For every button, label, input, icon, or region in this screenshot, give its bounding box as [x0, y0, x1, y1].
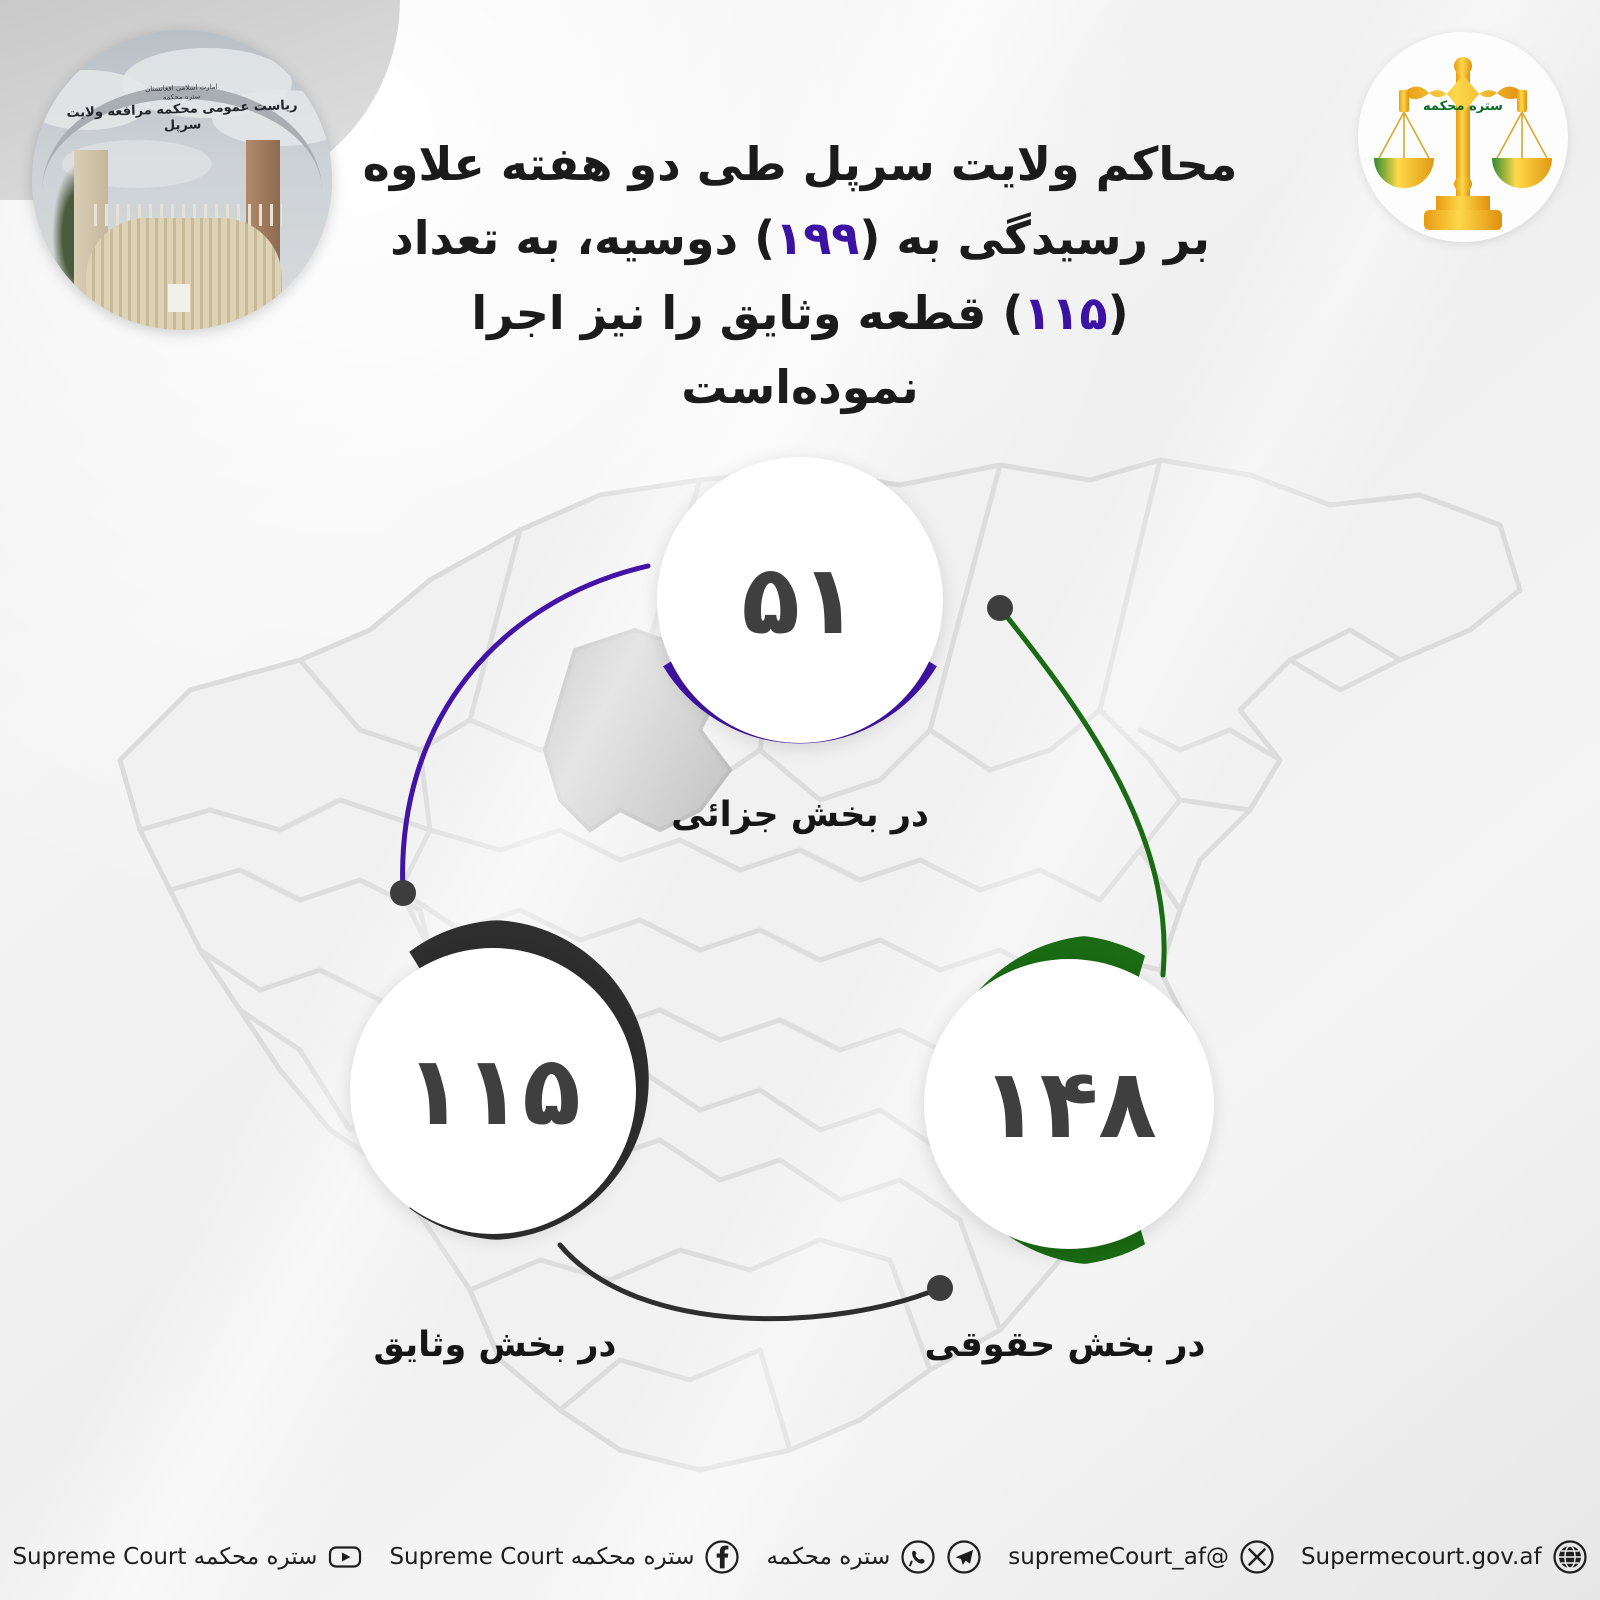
- deeds-value: ۱۱۵: [405, 1035, 581, 1147]
- connector-criminal: [403, 566, 648, 893]
- whatsapp-icon[interactable]: [900, 1539, 936, 1575]
- metric-deeds[interactable]: ۱۱۵: [345, 920, 665, 1240]
- footer-label-facebook: ستره محکمه Supreme Court: [389, 1544, 694, 1570]
- deeds-caption: در بخش وثایق: [330, 1325, 660, 1365]
- infographic-canvas: امارت اسلامی افغانستان ستره محکمه ریاست …: [0, 0, 1600, 1600]
- metric-civil[interactable]: ۱۴۸: [900, 935, 1230, 1265]
- footer-label-messaging: ستره محکمه: [766, 1544, 890, 1570]
- footer-bar: Supermecourt.gov.af @supremeCourt_af ستر…: [0, 1514, 1600, 1600]
- footer-label-website: Supermecourt.gov.af: [1301, 1544, 1542, 1570]
- connector-dot-criminal: [390, 880, 416, 906]
- deeds-value-disc: ۱۱۵: [350, 948, 636, 1234]
- telegram-icon[interactable]: [946, 1539, 982, 1575]
- civil-value: ۱۴۸: [981, 1048, 1157, 1160]
- footer-item-website[interactable]: Supermecourt.gov.af: [1301, 1539, 1588, 1575]
- metric-criminal[interactable]: ۵۱: [640, 440, 960, 760]
- footer-label-x: @supremeCourt_af: [1008, 1544, 1229, 1570]
- footer-item-messaging[interactable]: ستره محکمه: [766, 1539, 982, 1575]
- connector-dot-civil: [987, 595, 1013, 621]
- globe-icon[interactable]: [1552, 1539, 1588, 1575]
- facebook-icon[interactable]: [704, 1539, 740, 1575]
- footer-label-youtube: ستره محکمه Supreme Court: [12, 1544, 317, 1570]
- footer-item-facebook[interactable]: ستره محکمه Supreme Court: [389, 1539, 740, 1575]
- youtube-icon[interactable]: [327, 1539, 363, 1575]
- civil-caption: در بخش حقوقی: [900, 1325, 1230, 1365]
- footer-item-youtube[interactable]: ستره محکمه Supreme Court: [12, 1539, 363, 1575]
- connector-dot-deeds: [927, 1275, 953, 1301]
- criminal-caption: در بخش جزائی: [640, 795, 960, 835]
- civil-value-disc: ۱۴۸: [924, 959, 1214, 1249]
- connector-civil: [1000, 608, 1164, 975]
- footer-item-x[interactable]: @supremeCourt_af: [1008, 1539, 1275, 1575]
- connector-deeds: [560, 1245, 940, 1319]
- criminal-value: ۵۱: [741, 544, 858, 656]
- x-icon[interactable]: [1239, 1539, 1275, 1575]
- criminal-value-disc: ۵۱: [657, 457, 943, 743]
